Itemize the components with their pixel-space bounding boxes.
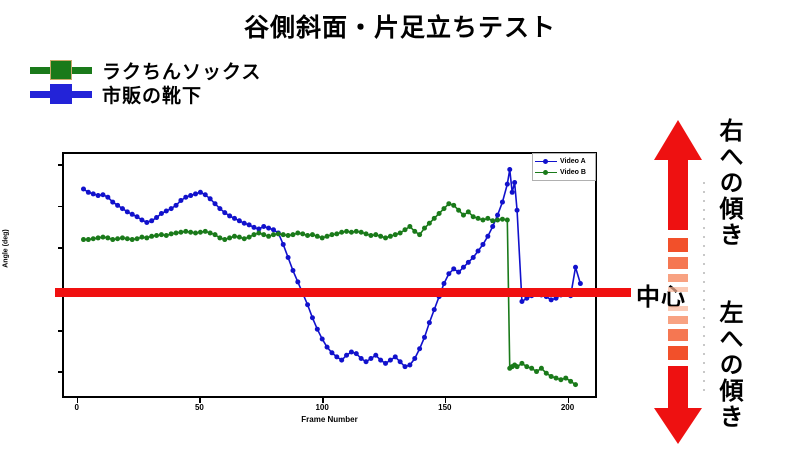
- x-axis-tick-label: 0: [57, 403, 97, 412]
- legend-item-commercial-socks: 市販の靴下: [30, 82, 261, 106]
- series-point: [441, 281, 446, 286]
- series-point: [105, 235, 110, 240]
- series-point: [471, 214, 476, 219]
- series-point: [456, 270, 461, 275]
- series-point: [471, 255, 476, 260]
- series-point: [325, 345, 330, 350]
- series-point: [164, 233, 169, 238]
- series-point: [510, 190, 515, 195]
- series-point: [305, 302, 310, 307]
- series-point: [505, 218, 510, 223]
- series-point: [441, 206, 446, 211]
- series-point: [383, 361, 388, 366]
- series-point: [115, 203, 120, 208]
- line-marker-icon: [535, 168, 557, 178]
- series-point: [364, 359, 369, 364]
- series-point: [373, 232, 378, 237]
- series-point: [495, 218, 500, 223]
- series-point: [344, 353, 349, 358]
- series-point: [339, 230, 344, 235]
- series-point: [437, 211, 442, 216]
- series-point: [247, 222, 252, 227]
- series-point: [271, 227, 276, 232]
- x-axis-tick-mark: [199, 398, 201, 403]
- series-point: [276, 231, 281, 236]
- series-point: [507, 167, 512, 172]
- series-point: [208, 196, 213, 201]
- series-point: [193, 191, 198, 196]
- outer-legend: ラクちんソックス 市販の靴下: [30, 58, 261, 106]
- series-point: [281, 232, 286, 237]
- series-point: [476, 216, 481, 221]
- series-point: [393, 232, 398, 237]
- series-point: [549, 374, 554, 379]
- series-point: [169, 206, 174, 211]
- series-point: [524, 364, 529, 369]
- series-point: [125, 236, 130, 241]
- series-point: [300, 231, 305, 236]
- series-point: [295, 231, 300, 236]
- series-point: [251, 232, 256, 237]
- series-point: [232, 216, 237, 221]
- legend-item-rakuchin-socks: ラクちんソックス: [30, 58, 261, 82]
- series-point: [227, 235, 232, 240]
- series-point: [490, 218, 495, 223]
- series-point: [178, 230, 183, 235]
- series-point: [81, 187, 86, 192]
- inner-legend-label: Video B: [560, 169, 586, 176]
- down-arrow-icon: [654, 306, 702, 444]
- series-point: [227, 213, 232, 218]
- x-axis-tick-mark: [77, 398, 79, 403]
- x-axis-tick-mark: [322, 398, 324, 403]
- series-point: [368, 233, 373, 238]
- series-point: [315, 327, 320, 332]
- series-point: [378, 234, 383, 239]
- series-point: [154, 233, 159, 238]
- series-point: [86, 190, 91, 195]
- x-axis-label: Frame Number: [62, 415, 597, 424]
- series-point: [139, 235, 144, 240]
- series-point: [558, 377, 563, 382]
- series-point: [242, 236, 247, 241]
- series-point: [81, 237, 86, 242]
- series-point: [500, 200, 505, 205]
- series-point: [398, 359, 403, 364]
- series-point: [451, 266, 456, 271]
- series-point: [135, 236, 140, 241]
- series-point: [373, 353, 378, 358]
- series-point: [286, 255, 291, 260]
- series-point: [256, 231, 261, 236]
- series-point: [86, 237, 91, 242]
- series-point: [251, 225, 256, 230]
- up-arrow-icon: [654, 120, 702, 292]
- series-point: [188, 230, 193, 235]
- series-point: [485, 234, 490, 239]
- series-point: [203, 192, 208, 197]
- series-point: [159, 211, 164, 216]
- series-point: [159, 232, 164, 237]
- series-point: [247, 235, 252, 240]
- series-point: [213, 201, 218, 206]
- series-point: [217, 235, 222, 240]
- series-point: [183, 195, 188, 200]
- chart-plot-area: [62, 152, 597, 398]
- series-point: [110, 237, 115, 242]
- series-point: [529, 366, 534, 371]
- series-point: [393, 354, 398, 359]
- series-point: [91, 236, 96, 241]
- series-point: [403, 227, 408, 232]
- series-point: [476, 248, 481, 253]
- series-point: [208, 231, 213, 236]
- divider-dotted-line: [703, 182, 705, 397]
- series-point: [573, 265, 578, 270]
- series-point: [544, 371, 549, 376]
- series-point: [115, 236, 120, 241]
- series-point: [295, 279, 300, 284]
- series-point: [290, 268, 295, 273]
- series-point: [315, 234, 320, 239]
- series-point: [461, 265, 466, 270]
- series-point: [480, 242, 485, 247]
- series-point: [466, 260, 471, 265]
- series-point: [178, 198, 183, 203]
- inner-legend-item-video-b: Video B: [535, 167, 593, 178]
- x-axis-tick-label: 150: [425, 403, 465, 412]
- x-axis-tick-label: 50: [179, 403, 219, 412]
- series-point: [578, 281, 583, 286]
- series-line-video-a: [83, 169, 580, 366]
- series-point: [271, 232, 276, 237]
- line-marker-icon: [535, 157, 557, 167]
- series-point: [515, 364, 520, 369]
- series-point: [310, 315, 315, 320]
- series-point: [174, 231, 179, 236]
- series-point: [344, 229, 349, 234]
- series-point: [213, 232, 218, 237]
- series-point: [198, 230, 203, 235]
- square-plus-marker-icon: [30, 59, 92, 81]
- series-point: [485, 216, 490, 221]
- series-point: [149, 218, 154, 223]
- center-reference-line: [55, 288, 631, 297]
- series-point: [339, 358, 344, 363]
- series-point: [359, 230, 364, 235]
- series-point: [412, 229, 417, 234]
- series-point: [203, 229, 208, 234]
- series-point: [237, 218, 242, 223]
- series-point: [261, 224, 266, 229]
- series-point: [222, 210, 227, 215]
- series-point: [100, 235, 105, 240]
- series-point: [286, 233, 291, 238]
- series-point: [96, 235, 101, 240]
- series-point: [139, 218, 144, 223]
- series-point: [539, 366, 544, 371]
- series-point: [193, 231, 198, 236]
- x-axis-tick-label: 100: [302, 403, 342, 412]
- series-point: [120, 235, 125, 240]
- series-point: [125, 209, 130, 214]
- series-point: [427, 320, 432, 325]
- x-axis-tick-mark: [445, 398, 447, 403]
- series-point: [91, 191, 96, 196]
- series-point: [320, 336, 325, 341]
- series-point: [549, 297, 554, 302]
- legend-label: 市販の靴下: [102, 81, 202, 108]
- series-point: [130, 212, 135, 217]
- chart-series-svg: [64, 154, 595, 396]
- series-point: [422, 226, 427, 231]
- series-point: [519, 299, 524, 304]
- series-point: [422, 335, 427, 340]
- series-point: [183, 229, 188, 234]
- series-point: [451, 203, 456, 208]
- series-point: [417, 232, 422, 237]
- series-point: [144, 220, 149, 225]
- series-point: [388, 358, 393, 363]
- page-title: 谷側斜面・片足立ちテスト: [0, 8, 800, 44]
- series-point: [417, 346, 422, 351]
- series-point: [281, 242, 286, 247]
- series-point: [237, 235, 242, 240]
- series-point: [388, 234, 393, 239]
- series-point: [144, 235, 149, 240]
- series-point: [512, 180, 517, 185]
- series-point: [461, 213, 466, 218]
- x-axis-tick-label: 200: [548, 403, 588, 412]
- series-point: [407, 363, 412, 368]
- series-point: [495, 213, 500, 218]
- series-point: [378, 358, 383, 363]
- series-point: [432, 216, 437, 221]
- series-point: [329, 232, 334, 237]
- series-point: [261, 232, 266, 237]
- series-point: [505, 182, 510, 187]
- series-point: [135, 214, 140, 219]
- series-point: [446, 271, 451, 276]
- series-point: [398, 231, 403, 236]
- series-point: [266, 234, 271, 239]
- series-point: [174, 203, 179, 208]
- series-point: [354, 351, 359, 356]
- series-point: [198, 190, 203, 195]
- series-point: [305, 233, 310, 238]
- series-point: [96, 193, 101, 198]
- series-point: [154, 215, 159, 220]
- series-point: [105, 195, 110, 200]
- series-point: [446, 201, 451, 206]
- series-point: [266, 226, 271, 231]
- inner-legend-item-video-a: Video A: [535, 156, 593, 167]
- series-point: [349, 230, 354, 235]
- series-point: [130, 237, 135, 242]
- series-point: [368, 356, 373, 361]
- series-point: [320, 235, 325, 240]
- series-point: [290, 232, 295, 237]
- series-point: [334, 354, 339, 359]
- series-point: [217, 206, 222, 211]
- series-point: [466, 209, 471, 214]
- series-point: [329, 350, 334, 355]
- series-point: [563, 376, 568, 381]
- series-point: [403, 364, 408, 369]
- series-point: [412, 356, 417, 361]
- series-point: [515, 208, 520, 213]
- tilt-left-label: 左への傾き: [716, 300, 740, 430]
- series-point: [490, 224, 495, 229]
- series-point: [456, 208, 461, 213]
- series-point: [169, 231, 174, 236]
- series-point: [232, 234, 237, 239]
- series-point: [519, 361, 524, 366]
- series-point: [164, 209, 169, 214]
- series-point: [534, 369, 539, 374]
- series-point: [554, 376, 559, 381]
- inner-legend-label: Video A: [560, 158, 586, 165]
- series-point: [354, 229, 359, 234]
- series-point: [310, 232, 315, 237]
- series-point: [427, 221, 432, 226]
- series-point: [407, 224, 412, 229]
- series-point: [568, 379, 573, 384]
- series-point: [364, 231, 369, 236]
- series-point: [334, 231, 339, 236]
- series-point: [188, 193, 193, 198]
- series-point: [242, 221, 247, 226]
- series-point: [432, 307, 437, 312]
- series-point: [573, 382, 578, 387]
- series-point: [110, 200, 115, 205]
- chart-inner-legend: Video A Video B: [532, 153, 596, 181]
- series-point: [359, 356, 364, 361]
- series-point: [325, 234, 330, 239]
- series-point: [149, 234, 154, 239]
- tilt-right-label: 右への傾き: [716, 118, 740, 248]
- series-point: [500, 217, 505, 222]
- series-point: [480, 218, 485, 223]
- series-point: [383, 235, 388, 240]
- series-point: [120, 206, 125, 211]
- series-point: [222, 237, 227, 242]
- legend-label: ラクちんソックス: [102, 57, 261, 84]
- x-axis-tick-mark: [568, 398, 570, 403]
- y-axis-label: Angle (deg): [3, 199, 10, 299]
- series-point: [100, 192, 105, 197]
- series-point: [349, 350, 354, 355]
- square-plus-marker-icon: [30, 83, 92, 105]
